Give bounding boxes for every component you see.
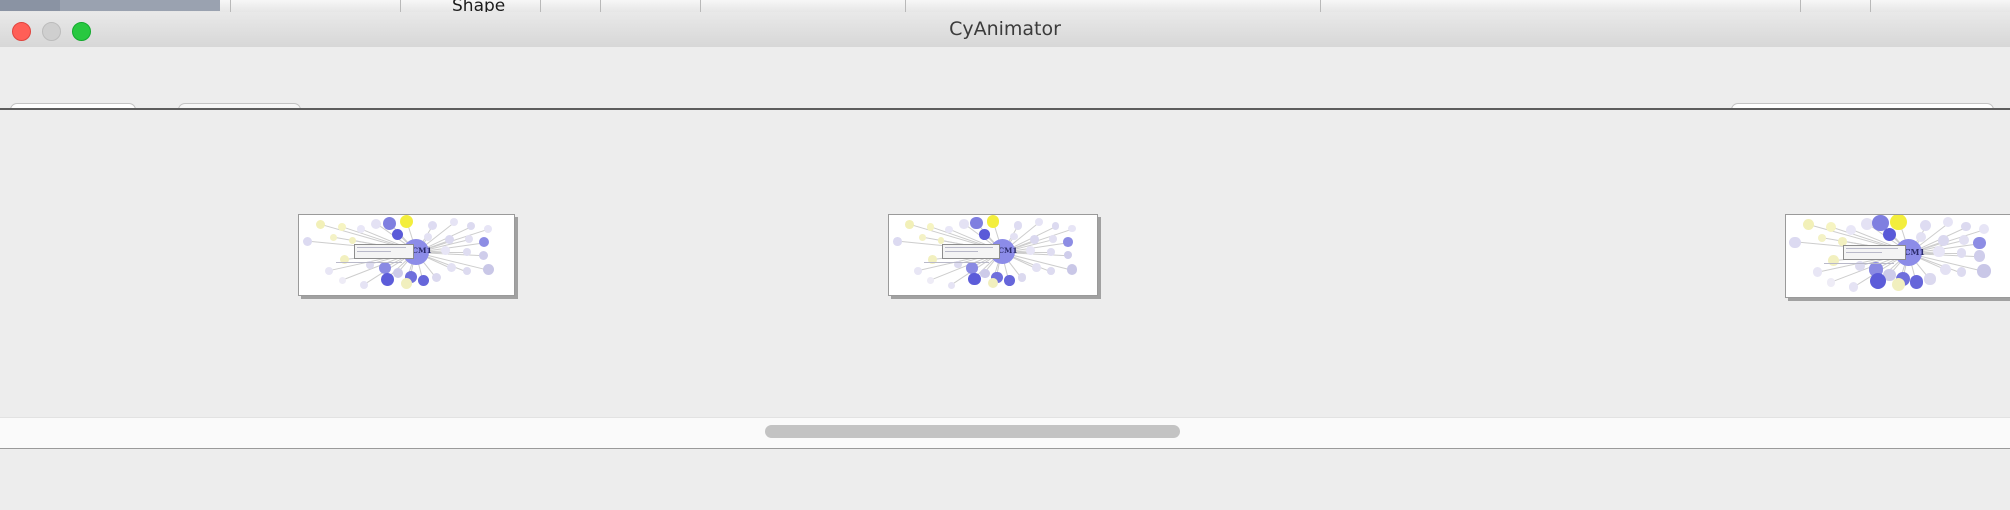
network-node bbox=[1910, 275, 1924, 289]
network-node bbox=[418, 275, 429, 286]
network-node bbox=[1957, 248, 1967, 258]
network-node bbox=[1047, 267, 1055, 275]
annotation-text-line bbox=[1846, 248, 1898, 249]
background-divider bbox=[1320, 0, 1321, 12]
network-node bbox=[316, 220, 325, 229]
background-divider bbox=[230, 0, 231, 12]
network-node bbox=[1974, 250, 1985, 261]
network-node bbox=[383, 217, 396, 230]
network-node bbox=[357, 225, 365, 233]
network-node bbox=[1920, 220, 1931, 231]
annotation-footer-line bbox=[1824, 263, 1894, 264]
network-thumbnail-graphic: MCM1 bbox=[1786, 215, 2010, 297]
network-node bbox=[483, 264, 494, 275]
network-node bbox=[381, 273, 394, 286]
background-divider bbox=[540, 0, 541, 12]
network-thumbnail-graphic: MCM1 bbox=[299, 215, 514, 295]
annotation-text-line bbox=[1846, 252, 1882, 253]
network-thumbnail-graphic: MCM1 bbox=[889, 215, 1097, 295]
network-node bbox=[1067, 264, 1078, 275]
network-node bbox=[1026, 246, 1035, 255]
network-node bbox=[1052, 222, 1060, 230]
network-node bbox=[1924, 273, 1935, 284]
network-node bbox=[371, 219, 381, 229]
background-divider bbox=[1800, 0, 1801, 12]
playback-controls: Animation Speed: bbox=[0, 449, 2010, 510]
annotation-text-line bbox=[357, 247, 406, 248]
background-divider bbox=[600, 0, 601, 12]
network-node bbox=[467, 222, 475, 230]
network-node bbox=[1818, 234, 1827, 243]
network-node bbox=[447, 263, 456, 272]
network-node bbox=[463, 248, 471, 256]
network-node bbox=[919, 234, 926, 241]
annotation-text-line bbox=[945, 251, 978, 252]
network-node bbox=[1957, 267, 1967, 277]
annotation-footer-line bbox=[924, 262, 988, 263]
cyanimator-window: Shape CyAnimator Clear All Frame bbox=[0, 0, 2010, 510]
timeline-scrollbar-thumb[interactable] bbox=[765, 425, 1180, 438]
network-node bbox=[1938, 235, 1949, 246]
network-node bbox=[893, 237, 902, 246]
background-divider bbox=[905, 0, 906, 12]
network-node bbox=[400, 215, 413, 228]
network-node bbox=[1973, 237, 1985, 249]
network-node bbox=[401, 278, 412, 289]
network-node bbox=[1846, 225, 1856, 235]
network-node bbox=[1940, 264, 1951, 275]
toolbar: Clear All Frames bbox=[0, 47, 2010, 108]
background-divider bbox=[1870, 0, 1871, 12]
title-bar: CyAnimator bbox=[0, 12, 2010, 48]
network-node bbox=[340, 255, 349, 264]
network-node bbox=[987, 215, 1000, 228]
network-node bbox=[1789, 237, 1800, 248]
network-node bbox=[1861, 218, 1873, 230]
network-node bbox=[379, 262, 391, 274]
network-node bbox=[1933, 246, 1944, 257]
frame-thumbnail[interactable]: MCM1 bbox=[1785, 214, 2010, 298]
network-node bbox=[1959, 235, 1969, 245]
network-node bbox=[1049, 235, 1057, 243]
network-node bbox=[1849, 282, 1859, 292]
network-node bbox=[1064, 251, 1073, 260]
network-node bbox=[1828, 255, 1839, 266]
network-node bbox=[1892, 278, 1906, 292]
network-node bbox=[1870, 273, 1886, 289]
network-node bbox=[1018, 273, 1027, 282]
background-dark-segment bbox=[0, 0, 60, 11]
network-node bbox=[966, 262, 978, 274]
network-node bbox=[970, 217, 983, 230]
network-node bbox=[1010, 233, 1018, 241]
network-node bbox=[945, 226, 953, 234]
frame-thumbnail[interactable]: MCM1 bbox=[888, 214, 1098, 296]
network-node bbox=[1813, 267, 1823, 277]
network-node bbox=[450, 218, 458, 226]
timeline-panel[interactable]: MCM1MCM1MCM1 12131415161718 Seconds bbox=[0, 110, 2010, 417]
network-node bbox=[1032, 263, 1041, 272]
network-node bbox=[1068, 225, 1076, 233]
network-node bbox=[424, 233, 432, 241]
network-node bbox=[330, 234, 337, 241]
network-node bbox=[393, 268, 403, 278]
background-divider bbox=[400, 0, 401, 12]
network-node bbox=[1035, 218, 1043, 226]
network-node bbox=[1004, 275, 1015, 286]
network-node bbox=[988, 278, 999, 289]
network-node bbox=[1979, 224, 1989, 234]
network-node bbox=[1047, 248, 1055, 256]
network-node bbox=[927, 277, 934, 284]
network-node bbox=[1961, 222, 1971, 232]
background-window-label: Shape bbox=[452, 0, 505, 12]
network-node bbox=[1063, 237, 1073, 247]
network-node bbox=[479, 251, 488, 260]
network-node bbox=[1943, 217, 1953, 227]
background-window-strip: Shape bbox=[0, 0, 2010, 12]
network-node bbox=[959, 219, 969, 229]
network-node bbox=[1803, 219, 1814, 230]
window-title: CyAnimator bbox=[0, 12, 2010, 47]
network-node bbox=[928, 255, 937, 264]
network-node bbox=[905, 220, 914, 229]
network-node bbox=[463, 267, 471, 275]
network-node bbox=[1977, 264, 1991, 278]
annotation-text-line bbox=[945, 247, 993, 248]
network-node bbox=[303, 237, 312, 246]
network-node bbox=[339, 277, 346, 284]
network-node bbox=[338, 223, 346, 231]
network-node bbox=[360, 281, 368, 289]
network-node bbox=[325, 267, 333, 275]
network-node bbox=[1890, 214, 1906, 230]
network-node bbox=[979, 229, 990, 240]
network-node bbox=[441, 246, 450, 255]
network-node bbox=[927, 223, 935, 231]
network-node bbox=[968, 273, 981, 286]
network-node bbox=[948, 282, 956, 290]
annotation-text-line bbox=[357, 251, 391, 252]
network-node bbox=[479, 237, 489, 247]
network-node bbox=[465, 235, 473, 243]
background-dark-segment-2 bbox=[60, 0, 220, 11]
network-node bbox=[1014, 221, 1023, 230]
network-node bbox=[1827, 278, 1836, 287]
frame-thumbnail[interactable]: MCM1 bbox=[298, 214, 515, 296]
network-node bbox=[914, 267, 922, 275]
background-divider bbox=[700, 0, 701, 12]
network-node bbox=[432, 273, 441, 282]
network-node bbox=[484, 225, 492, 233]
network-node bbox=[980, 269, 990, 279]
annotation-footer-line bbox=[336, 262, 403, 263]
network-node bbox=[428, 221, 437, 230]
network-node bbox=[1916, 232, 1926, 242]
